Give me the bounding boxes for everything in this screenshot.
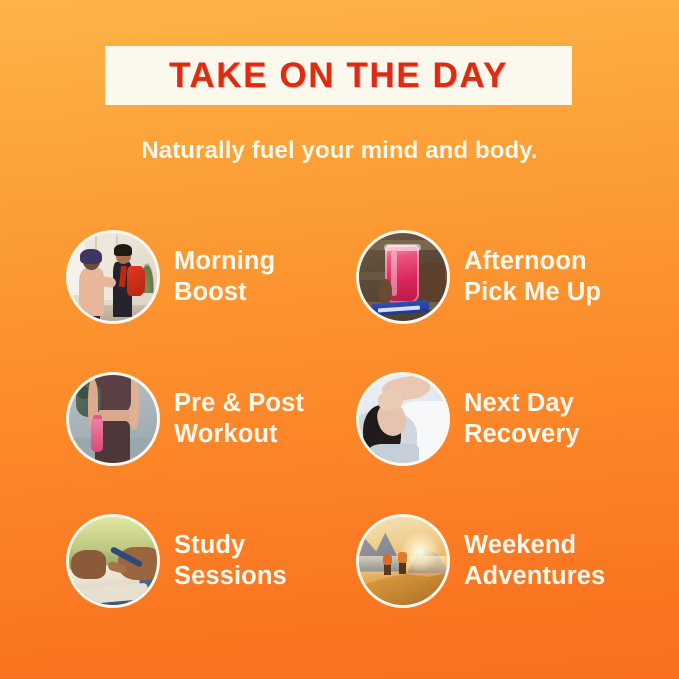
study-sessions-photo xyxy=(69,517,157,605)
benefit-label-study-sessions: Study Sessions xyxy=(174,530,287,592)
benefit-item-weekend-adventures: Weekend Adventures xyxy=(356,490,677,632)
promotional-poster: TAKE ON THE DAY Naturally fuel your mind… xyxy=(0,0,679,679)
benefit-item-study-sessions: Study Sessions xyxy=(66,490,356,632)
benefit-label-pre-and-post-workout: Pre & Post Workout xyxy=(174,388,304,450)
study-sessions-thumbnail xyxy=(66,514,160,608)
label-line-1: Study xyxy=(174,531,245,559)
label-line-2: Boost xyxy=(174,278,247,306)
next-day-recovery-photo xyxy=(359,375,447,463)
weekend-adventures-photo xyxy=(359,517,447,605)
weekend-adventures-thumbnail xyxy=(356,514,450,608)
benefit-item-next-day-recovery: Next Day Recovery xyxy=(356,348,677,490)
afternoon-pick-me-up-thumbnail xyxy=(356,230,450,324)
page-title: TAKE ON THE DAY xyxy=(169,58,508,93)
label-line-1: Morning xyxy=(174,247,275,275)
benefit-label-next-day-recovery: Next Day Recovery xyxy=(464,388,580,450)
morning-boost-thumbnail xyxy=(66,230,160,324)
benefit-label-afternoon-pick-me-up: Afternoon Pick Me Up xyxy=(464,246,601,308)
pre-and-post-workout-photo xyxy=(69,375,157,463)
label-line-1: Pre & Post xyxy=(174,389,304,417)
label-line-2: Workout xyxy=(174,420,278,448)
benefit-item-morning-boost: Morning Boost xyxy=(66,206,356,348)
label-line-2: Recovery xyxy=(464,420,580,448)
label-line-2: Pick Me Up xyxy=(464,278,601,306)
next-day-recovery-thumbnail xyxy=(356,372,450,466)
pre-and-post-workout-thumbnail xyxy=(66,372,160,466)
benefit-label-morning-boost: Morning Boost xyxy=(174,246,275,308)
morning-boost-photo xyxy=(69,233,157,321)
subtitle: Naturally fuel your mind and body. xyxy=(0,137,679,165)
label-line-2: Adventures xyxy=(464,562,605,590)
label-line-1: Next Day xyxy=(464,389,574,417)
benefit-item-pre-and-post-workout: Pre & Post Workout xyxy=(66,348,356,490)
benefits-grid: Morning Boost Afternoon Pick Me Up xyxy=(0,206,679,632)
benefit-label-weekend-adventures: Weekend Adventures xyxy=(464,530,605,592)
label-line-1: Weekend xyxy=(464,531,576,559)
label-line-2: Sessions xyxy=(174,562,287,590)
title-banner: TAKE ON THE DAY xyxy=(105,46,572,105)
label-line-1: Afternoon xyxy=(464,247,587,275)
afternoon-pick-me-up-photo xyxy=(359,233,447,321)
benefit-item-afternoon-pick-me-up: Afternoon Pick Me Up xyxy=(356,206,677,348)
